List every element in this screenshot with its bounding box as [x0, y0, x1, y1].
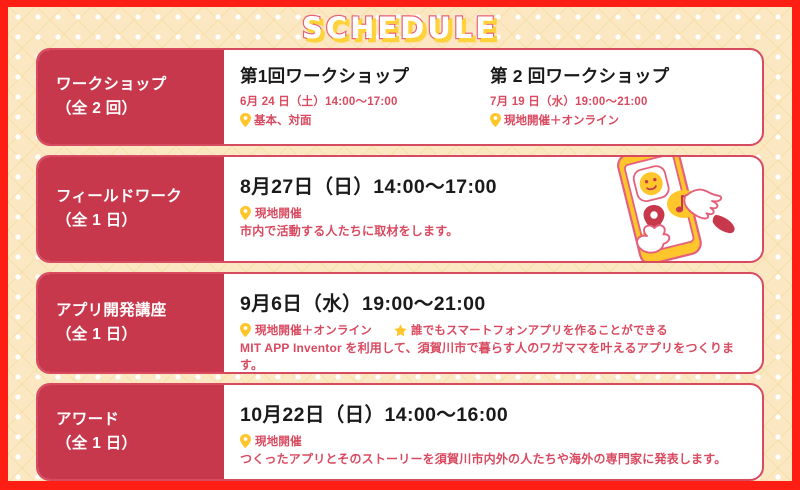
row-body-award: 10月22日（日）14:00〜16:00 現地開催 つくったアプリとそのストーリ…	[224, 385, 762, 479]
row-label-workshop: ワークショップ （全 2 回）	[36, 48, 224, 146]
event-place-label: 現地開催	[255, 205, 302, 221]
event-description: MIT APP Inventor を利用して、須賀川市で暮らす人のワガママを叶え…	[240, 340, 750, 374]
session-place-label: 基本、対面	[254, 112, 312, 128]
location-pin-icon	[240, 323, 251, 337]
location-pin-icon	[490, 113, 501, 127]
row-label-title: フィールドワーク	[56, 185, 224, 209]
session-place-label: 現地開催＋オンライン	[504, 112, 619, 128]
row-label-count: （全 1 日）	[56, 432, 224, 456]
schedule-rows: ワークショップ （全 2 回） 第1回ワークショップ 6月 24 日（土）14:…	[36, 48, 764, 490]
session-place: 現地開催＋オンライン	[490, 112, 669, 128]
schedule-row-app-course[interactable]: アプリ開発講座 （全 1 日） 9月6日（水）19:00〜21:00 現地開催＋…	[36, 272, 764, 374]
event-note: 誰でもスマートフォンアプリを作ることができる	[411, 322, 668, 338]
event-description: つくったアプリとそのストーリーを須賀川市内外の人たちや海外の専門家に発表します。	[240, 451, 750, 468]
row-label-title: アプリ開発講座	[56, 299, 224, 323]
event-place: 現地開催＋オンライン 誰でもスマートフォンアプリを作ることができる	[240, 322, 750, 338]
row-label-count: （全 1 日）	[56, 323, 224, 347]
event-place-label: 現地開催＋オンライン	[255, 322, 372, 338]
row-label-title: アワード	[56, 408, 224, 432]
row-body-app-course: 9月6日（水）19:00〜21:00 現地開催＋オンライン 誰でもスマートフォン…	[224, 274, 762, 372]
location-pin-icon	[240, 113, 251, 127]
row-label-app-course: アプリ開発講座 （全 1 日）	[36, 272, 224, 374]
session-item: 第 2 回ワークショップ 7月 19 日（水）19:00〜21:00 現地開催＋…	[490, 59, 669, 128]
location-pin-icon	[240, 206, 251, 220]
schedule-row-fieldwork[interactable]: フィールドワーク （全 1 日） 8月27日（日）14:00〜17:00 現地開…	[36, 155, 764, 263]
event-description: 市内で活動する人たちに取材をします。	[240, 223, 750, 240]
session-date: 7月 19 日（水）19:00〜21:00	[490, 93, 669, 109]
session-place: 基本、対面	[240, 112, 490, 128]
row-body-fieldwork: 8月27日（日）14:00〜17:00 現地開催 市内で活動する人たちに取材をし…	[224, 157, 762, 261]
event-place: 現地開催	[240, 205, 750, 221]
event-place-label: 現地開催	[255, 433, 302, 449]
event-date: 10月22日（日）14:00〜16:00	[240, 398, 750, 427]
session-title: 第 2 回ワークショップ	[490, 63, 669, 88]
row-body-workshop: 第1回ワークショップ 6月 24 日（土）14:00〜17:00 基本、対面 第…	[224, 50, 762, 144]
session-item: 第1回ワークショップ 6月 24 日（土）14:00〜17:00 基本、対面	[240, 59, 490, 128]
event-date: 8月27日（日）14:00〜17:00	[240, 170, 750, 199]
event-date: 9月6日（水）19:00〜21:00	[240, 287, 750, 316]
schedule-row-workshop[interactable]: ワークショップ （全 2 回） 第1回ワークショップ 6月 24 日（土）14:…	[36, 48, 764, 146]
session-list: 第1回ワークショップ 6月 24 日（土）14:00〜17:00 基本、対面 第…	[240, 59, 750, 128]
page-title-text: SCHEDULE	[302, 11, 498, 45]
row-label-fieldwork: フィールドワーク （全 1 日）	[36, 155, 224, 263]
page-title: SCHEDULE SCHEDULE	[8, 10, 792, 46]
schedule-poster: SCHEDULE SCHEDULE ワークショップ （全 2 回） 第1回ワーク…	[0, 0, 800, 488]
row-label-count: （全 2 回）	[56, 97, 224, 121]
session-title: 第1回ワークショップ	[240, 63, 490, 88]
schedule-row-award[interactable]: アワード （全 1 日） 10月22日（日）14:00〜16:00 現地開催 つ…	[36, 383, 764, 481]
row-label-award: アワード （全 1 日）	[36, 383, 224, 481]
event-place: 現地開催	[240, 433, 750, 449]
row-label-count: （全 1 日）	[56, 209, 224, 233]
location-pin-icon	[240, 434, 251, 448]
row-label-title: ワークショップ	[56, 73, 224, 97]
session-date: 6月 24 日（土）14:00〜17:00	[240, 93, 490, 109]
star-icon	[394, 324, 407, 337]
